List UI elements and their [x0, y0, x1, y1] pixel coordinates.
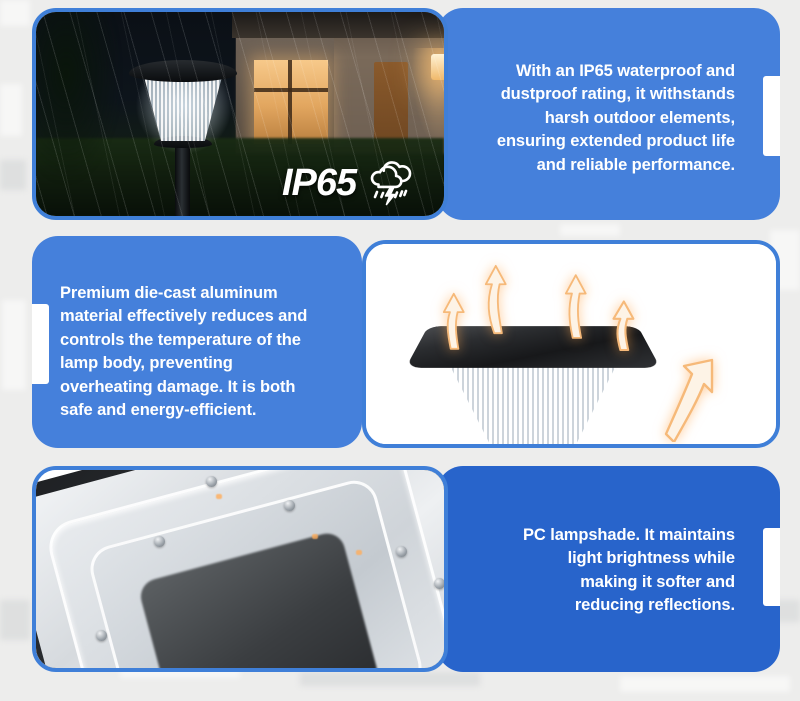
heat-flow-arrow — [610, 294, 636, 354]
ip65-badge: IP65 — [282, 160, 418, 206]
housing-screw — [434, 578, 444, 589]
card-notch — [763, 76, 780, 156]
led-chip — [312, 534, 318, 539]
heat-flow-arrow — [562, 262, 588, 348]
feature-image-die-cast-aluminum — [362, 240, 780, 448]
background-watermark — [0, 160, 26, 190]
feature-image-pc-lampshade — [32, 466, 448, 672]
background-watermark — [2, 300, 26, 390]
background-watermark — [0, 84, 22, 136]
ip65-rating-label: IP65 — [282, 162, 356, 205]
housing-screw — [396, 546, 407, 557]
feature-description-pc-lampshade: PC lampshade. It maintains light brightn… — [477, 524, 735, 618]
heat-flow-arrow — [660, 332, 718, 442]
housing-screw — [154, 536, 165, 547]
feature-description-die-cast-aluminum: Premium die-cast aluminum material effec… — [60, 282, 356, 423]
background-watermark — [560, 224, 620, 236]
feature-highlights-page: With an IP65 waterproof and dustproof ra… — [0, 0, 800, 701]
background-watermark — [620, 676, 790, 692]
background-watermark — [300, 672, 480, 686]
feature-image-waterproof: IP65 — [32, 8, 448, 220]
housing-screw — [96, 630, 107, 641]
heat-flow-arrow — [482, 252, 508, 344]
card-notch — [763, 528, 780, 606]
background-watermark — [0, 0, 30, 26]
background-watermark — [0, 600, 30, 640]
heat-flow-arrow — [440, 280, 466, 358]
housing-screw — [206, 476, 217, 487]
card-notch — [32, 304, 49, 384]
feature-text-card-waterproof: With an IP65 waterproof and dustproof ra… — [437, 8, 780, 220]
feature-description-waterproof: With an IP65 waterproof and dustproof ra… — [459, 60, 735, 177]
housing-screw — [284, 500, 295, 511]
feature-text-card-die-cast-aluminum: Premium die-cast aluminum material effec… — [32, 236, 362, 448]
feature-text-card-pc-lampshade: PC lampshade. It maintains light brightn… — [437, 466, 780, 672]
rain-cloud-lightning-icon — [364, 160, 418, 206]
led-chip — [216, 494, 222, 499]
led-chip — [356, 550, 362, 555]
